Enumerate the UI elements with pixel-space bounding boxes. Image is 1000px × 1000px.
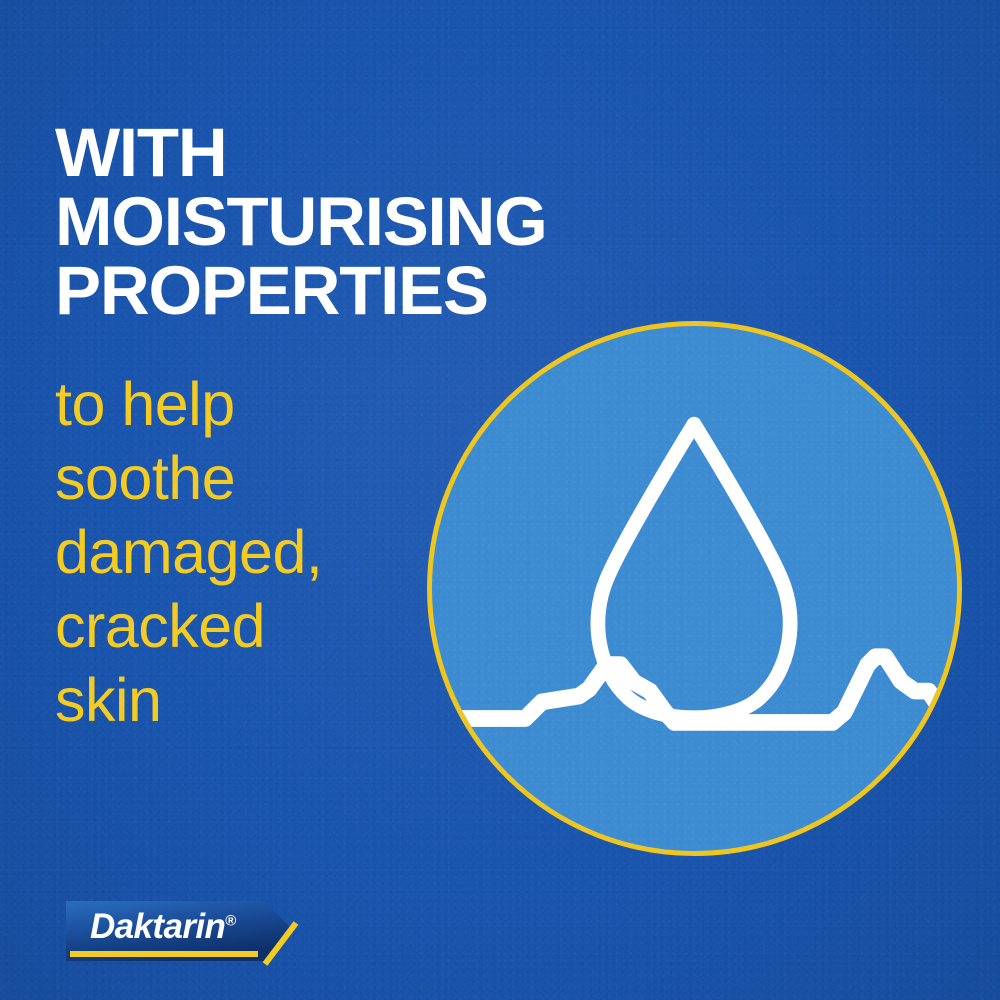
- headline-line-3: PROPERTIES: [55, 256, 675, 325]
- brand-wordmark: Daktarin®: [90, 907, 236, 947]
- subtitle-line-1: to help: [55, 367, 485, 441]
- page-title: WITH MOISTURISING PROPERTIES: [55, 118, 675, 325]
- water-droplet-on-skin-icon: [427, 321, 962, 856]
- subtitle: to help soothe damaged, cracked skin: [55, 367, 485, 737]
- headline-line-1: WITH: [55, 118, 675, 187]
- subtitle-line-2: soothe: [55, 441, 485, 515]
- advertisement-banner: WITH MOISTURISING PROPERTIES to help soo…: [0, 0, 1000, 1000]
- subtitle-line-3: damaged,: [55, 515, 485, 589]
- headline-line-2: MOISTURISING: [55, 187, 675, 256]
- brand-name-text: Daktarin: [90, 907, 225, 946]
- subtitle-line-4: cracked: [55, 589, 485, 663]
- logo-yellow-stripe: [70, 951, 258, 957]
- subtitle-line-5: skin: [55, 663, 485, 737]
- registered-trademark-icon: ®: [225, 912, 236, 929]
- brand-logo[interactable]: Daktarin®: [66, 901, 316, 973]
